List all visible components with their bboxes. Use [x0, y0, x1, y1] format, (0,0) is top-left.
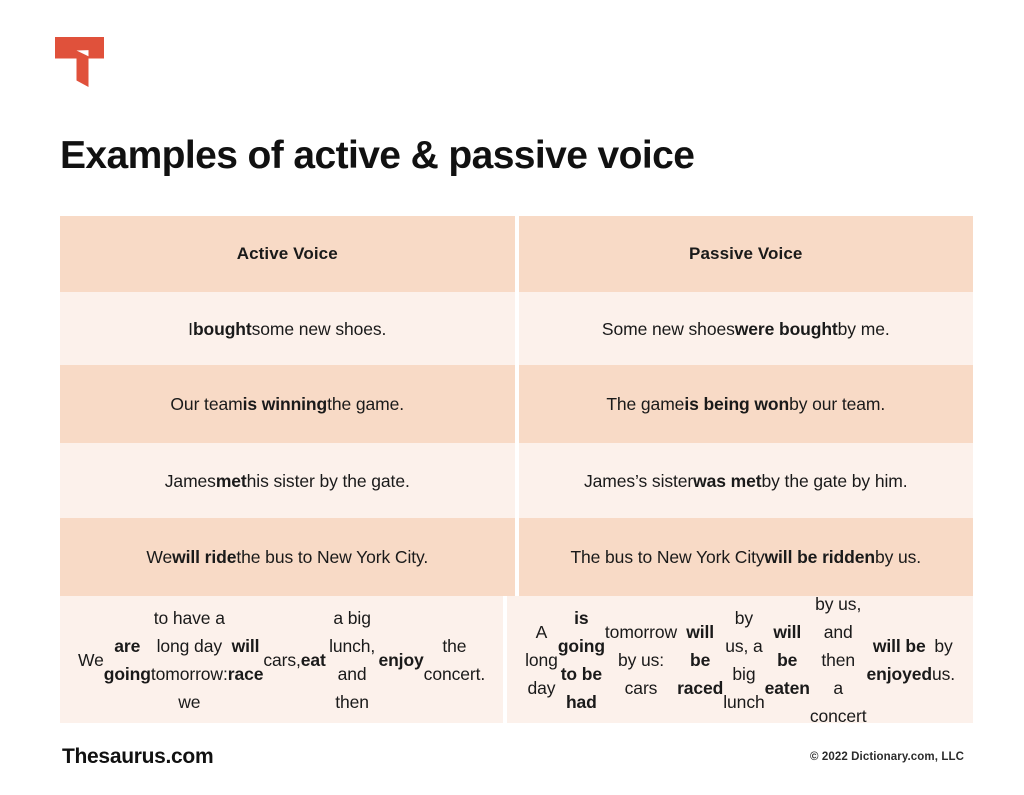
cell-passive-voice: A long day is going to be had tomorrowby… [507, 596, 973, 723]
page-footer: Thesaurus.com © 2022 Dictionary.com, LLC [0, 737, 1024, 777]
footer-copyright: © 2022 Dictionary.com, LLC [810, 751, 964, 763]
cell-active-voice: We will ride the bus to New York City. [60, 518, 515, 596]
footer-brand-name: Thesaurus.com [62, 745, 213, 769]
column-header-active-voice: Active Voice [60, 216, 515, 292]
cell-active-voice: James met his sister by the gate. [60, 443, 515, 518]
cell-active-voice: I bought some new shoes. [60, 292, 515, 365]
thesaurus-logo [55, 37, 104, 87]
cell-active-voice: We are going to have a long daytomorrow:… [60, 596, 503, 723]
cell-passive-voice: James’s sister was met by the gate by hi… [519, 443, 974, 518]
table-row: Our team is winning the game. The game i… [60, 365, 973, 443]
table-row: We will ride the bus to New York City. T… [60, 518, 973, 596]
column-header-passive-voice: Passive Voice [519, 216, 974, 292]
page-title: Examples of active & passive voice [60, 134, 940, 179]
cell-passive-voice: The bus to New York Citywill be ridden b… [519, 518, 974, 596]
table-row: We are going to have a long daytomorrow:… [60, 596, 973, 723]
cell-passive-voice: Some new shoes were bought by me. [519, 292, 974, 365]
thesaurus-t-logo-icon [55, 37, 104, 87]
active-passive-voice-table: Active Voice Passive Voice I bought some… [60, 216, 973, 723]
cell-passive-voice: The game is being won by our team. [519, 365, 974, 443]
table-row: James met his sister by the gate. James’… [60, 443, 973, 518]
table-row: I bought some new shoes. Some new shoes … [60, 292, 973, 365]
cell-active-voice: Our team is winning the game. [60, 365, 515, 443]
table-header-row: Active Voice Passive Voice [60, 216, 973, 292]
